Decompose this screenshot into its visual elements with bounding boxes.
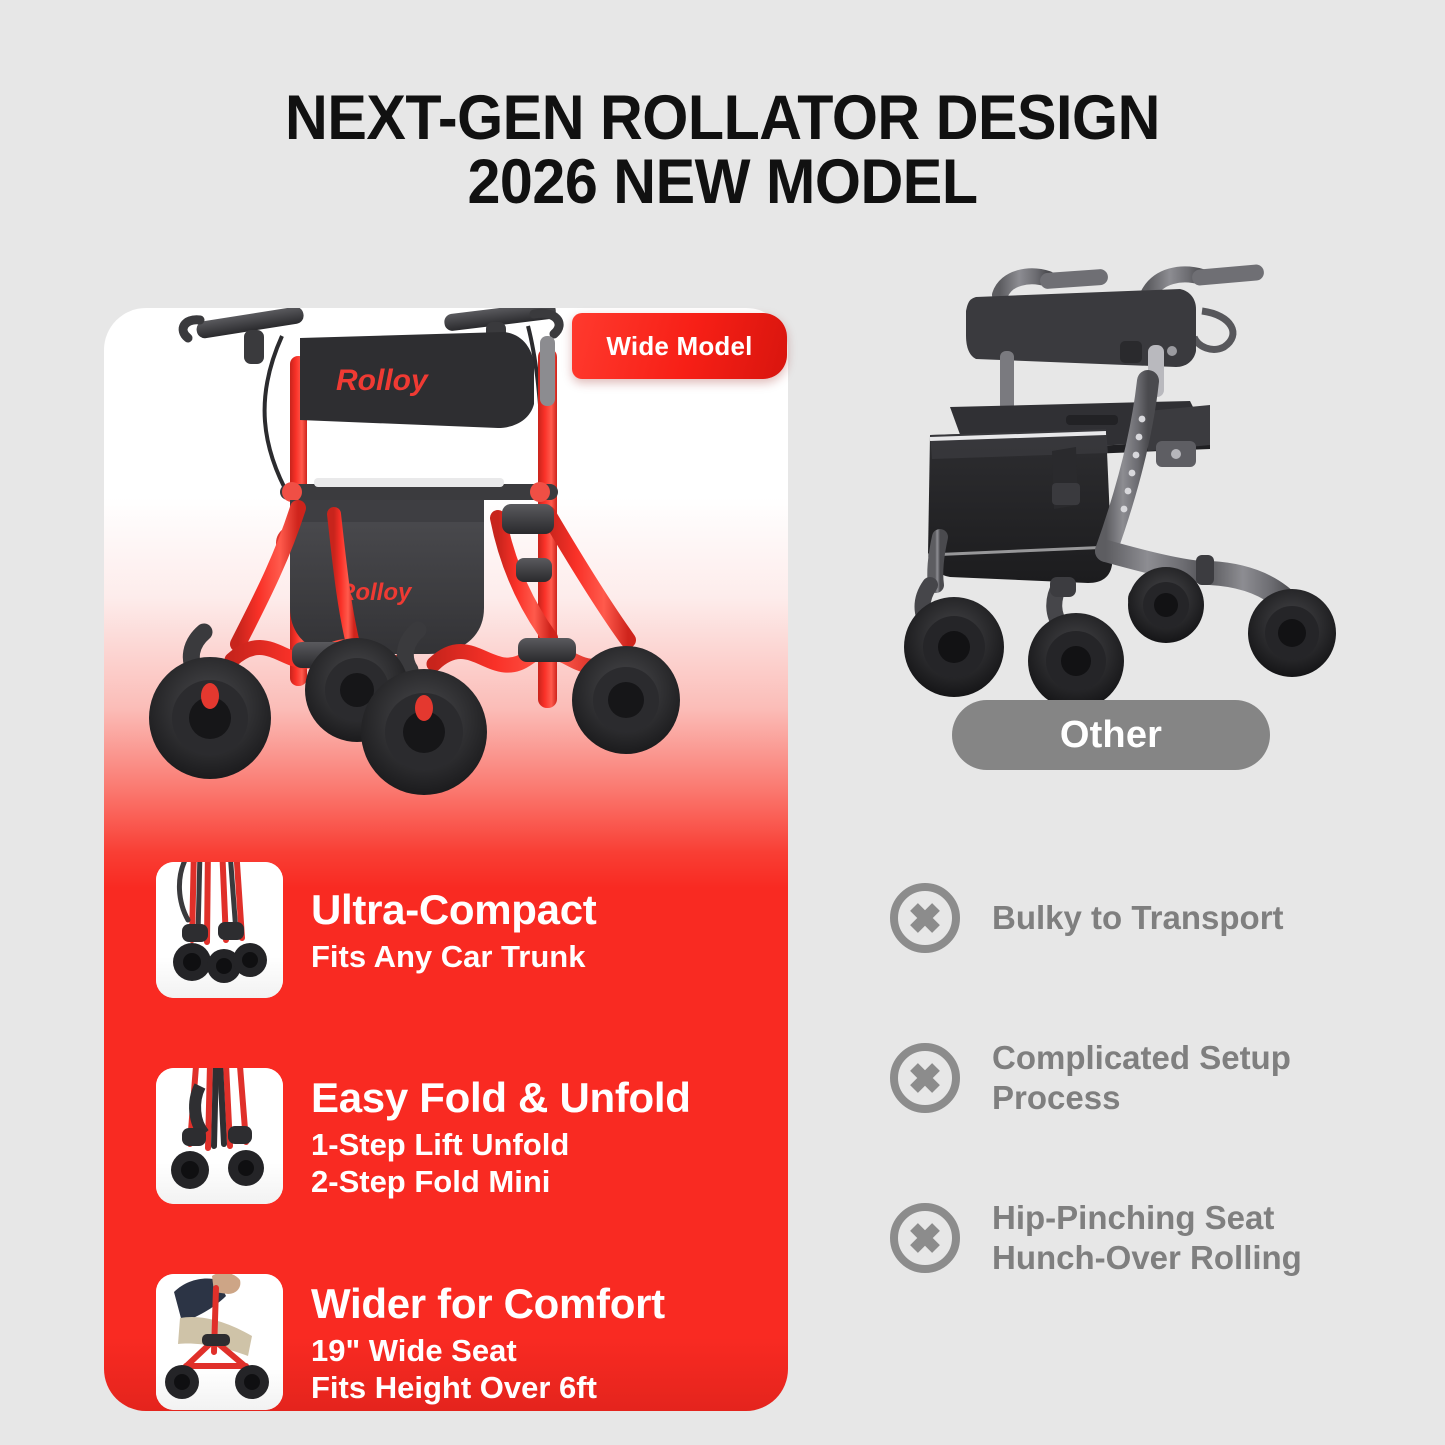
feature-subtitle-line: 1-Step Lift Unfold <box>311 1126 691 1163</box>
circle-x-icon <box>888 881 962 955</box>
feature-title: Easy Fold & Unfold <box>311 1076 691 1120</box>
svg-text:Rolloy: Rolloy <box>336 364 429 397</box>
wide-model-badge-label: Wide Model <box>606 331 752 362</box>
hand-carrying-folded-rollator-thumb <box>156 1068 283 1204</box>
feature-item-ultra-compact: Ultra-Compact Fits Any Car Trunk <box>104 846 788 1014</box>
cons-list: Bulky to Transport Complicated Setup Pro… <box>888 862 1408 1342</box>
seated-user-rollator-thumb <box>156 1274 283 1410</box>
infographic-page: NEXT-GEN ROLLATOR DESIGN 2026 NEW MODEL <box>0 0 1445 1445</box>
circle-x-icon <box>888 1201 962 1275</box>
folded-rollator-thumb <box>156 862 283 998</box>
wide-model-badge: Wide Model <box>572 313 787 379</box>
con-text-line: Complicated Setup <box>992 1038 1291 1078</box>
other-storage-bag <box>928 429 1112 583</box>
feature-subtitle-line: Fits Any Car Trunk <box>311 938 596 975</box>
con-item-bulky: Bulky to Transport <box>888 862 1408 974</box>
con-text-line: Process <box>992 1078 1291 1118</box>
con-text-line: Hunch-Over Rolling <box>992 1238 1302 1278</box>
backrest-panel: Rolloy <box>300 332 534 428</box>
con-text-line: Hip-Pinching Seat <box>992 1198 1302 1238</box>
con-text-line: Bulky to Transport <box>992 898 1284 938</box>
other-rollator-image <box>880 255 1340 725</box>
con-item-hip-pinching: Hip-Pinching Seat Hunch-Over Rolling <box>888 1182 1408 1294</box>
feature-list: Ultra-Compact Fits Any Car Trunk <box>104 846 788 1411</box>
feature-subtitle-line: 2-Step Fold Mini <box>311 1163 691 1200</box>
feature-title: Wider for Comfort <box>311 1282 665 1326</box>
con-item-complicated-setup: Complicated Setup Process <box>888 1022 1408 1134</box>
page-title: NEXT-GEN ROLLATOR DESIGN 2026 NEW MODEL <box>0 86 1445 215</box>
other-badge-label: Other <box>1060 714 1162 757</box>
con-text: Complicated Setup Process <box>992 1038 1291 1119</box>
con-text: Hip-Pinching Seat Hunch-Over Rolling <box>992 1198 1302 1279</box>
rolloy-rollator-image: Rolloy Rolloy <box>104 308 788 868</box>
storage-bag: Rolloy <box>279 500 485 654</box>
hero-product-card: Rolloy Rolloy <box>104 308 788 1411</box>
feature-title: Ultra-Compact <box>311 888 596 932</box>
title-line-1: NEXT-GEN ROLLATOR DESIGN <box>43 86 1401 150</box>
feature-item-wider-comfort: Wider for Comfort 19" Wide Seat Fits Hei… <box>104 1258 788 1411</box>
feature-subtitle-line: 19" Wide Seat <box>311 1332 665 1369</box>
circle-x-icon <box>888 1041 962 1115</box>
con-text: Bulky to Transport <box>992 898 1284 938</box>
title-line-2: 2026 NEW MODEL <box>43 150 1401 214</box>
feature-item-easy-fold: Easy Fold & Unfold 1-Step Lift Unfold 2-… <box>104 1052 788 1220</box>
other-badge: Other <box>952 700 1270 770</box>
feature-subtitle-line: Fits Height Over 6ft <box>311 1369 665 1406</box>
